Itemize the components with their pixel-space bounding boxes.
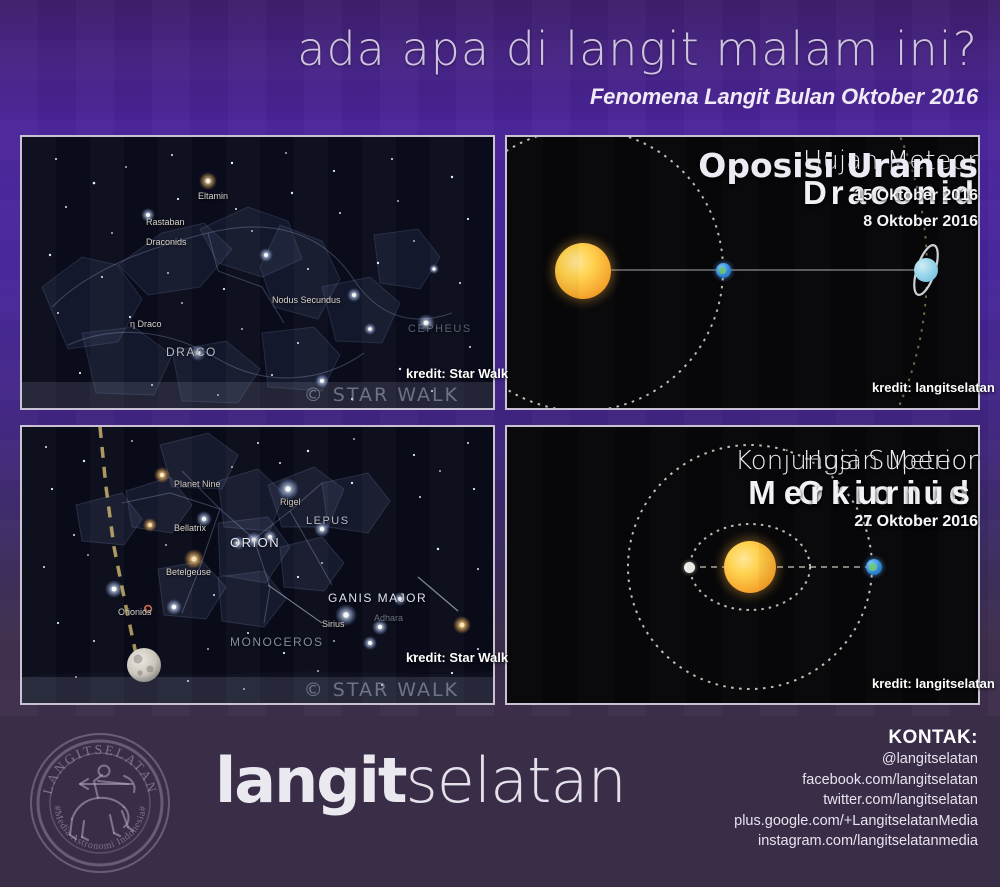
logo-emblem-icon: LANGITSELATAN #Media Astronomi Indonesia…	[32, 735, 168, 871]
earth-body	[866, 559, 882, 575]
caption-merkurius: Konjungsi Superior Merkurius 27 Oktober …	[735, 446, 978, 531]
constellation-label: GANIS MAJOR	[328, 591, 427, 605]
wordmark-thin: selatan	[406, 744, 626, 817]
starwalk-watermark: © STAR WALK	[304, 384, 459, 406]
contact-title: KONTAK:	[734, 727, 978, 749]
star-label: Sirius	[322, 619, 345, 629]
credit-draconid: kredit: Star Walk	[406, 366, 508, 381]
caption-date: 15 Oktober 2016	[698, 187, 978, 205]
credit-uranus: kredit: langitselatan	[872, 380, 995, 395]
star-label: η Draco	[130, 319, 162, 329]
starwalk-watermark: © STAR WALK	[304, 679, 459, 701]
page-subtitle: Fenomena Langit Bulan Oktober 2016	[0, 84, 978, 110]
langitselatan-logo[interactable]: LANGITSELATAN #Media Astronomi Indonesia…	[30, 733, 170, 873]
constellation-label: ORION	[230, 535, 280, 550]
star-label: Betelgeuse	[166, 567, 211, 577]
langitselatan-wordmark: langitselatan	[215, 750, 626, 812]
caption-line1: Oposisi Uranus	[698, 146, 978, 185]
contact-item-googleplus[interactable]: plus.google.com/+LangitselatanMedia	[734, 811, 978, 832]
contact-item-instagram[interactable]: instagram.com/langitselatanmedia	[734, 831, 978, 852]
contact-item-twitter[interactable]: twitter.com/langitselatan	[734, 790, 978, 811]
constellation-label: CEPHEUS	[408, 323, 472, 335]
star-label: Draconids	[146, 237, 187, 247]
star-label: Nodus Secundus	[272, 295, 341, 305]
wordmark-bold: langit	[215, 744, 406, 817]
star-label: Adhara	[374, 613, 403, 623]
star-label: Rigel	[280, 497, 301, 507]
sun-body	[555, 243, 611, 299]
star-label: Rastaban	[146, 217, 185, 227]
mercury-body	[684, 562, 695, 573]
earth-body	[716, 263, 731, 278]
caption-uranus: Oposisi Uranus 15 Oktober 2016	[698, 146, 978, 205]
constellation-label: MONOCEROS	[230, 635, 324, 649]
svg-text:#Media Astronomi Indonesia#: #Media Astronomi Indonesia#	[51, 805, 149, 852]
contact-block: KONTAK: @langitselatan facebook.com/lang…	[734, 727, 978, 852]
star-label: Orionids	[118, 607, 152, 617]
uranus-body	[914, 258, 938, 282]
caption-line2: Merkurius	[735, 476, 978, 511]
infographic-poster: ada apa di langit malam ini? Fenomena La…	[0, 0, 1000, 887]
sun-body	[724, 541, 776, 593]
star-label: Planet Nine	[174, 479, 221, 489]
caption-line1: Konjungsi Superior	[735, 446, 978, 476]
page-title: ada apa di langit malam ini?	[0, 22, 978, 76]
star-label: Eltamin	[198, 191, 228, 201]
contact-item-instagram-handle[interactable]: @langitselatan	[734, 749, 978, 770]
contact-item-facebook[interactable]: facebook.com/langitselatan	[734, 770, 978, 791]
constellation-label: LEPUS	[306, 515, 350, 527]
star-label: Bellatrix	[174, 523, 206, 533]
caption-date: 8 Oktober 2016	[803, 213, 978, 231]
credit-merkurius: kredit: langitselatan	[872, 676, 995, 691]
caption-date: 27 Oktober 2016	[735, 513, 978, 531]
constellation-label: DRACO	[166, 345, 217, 359]
credit-orionid: kredit: Star Walk	[406, 650, 508, 665]
